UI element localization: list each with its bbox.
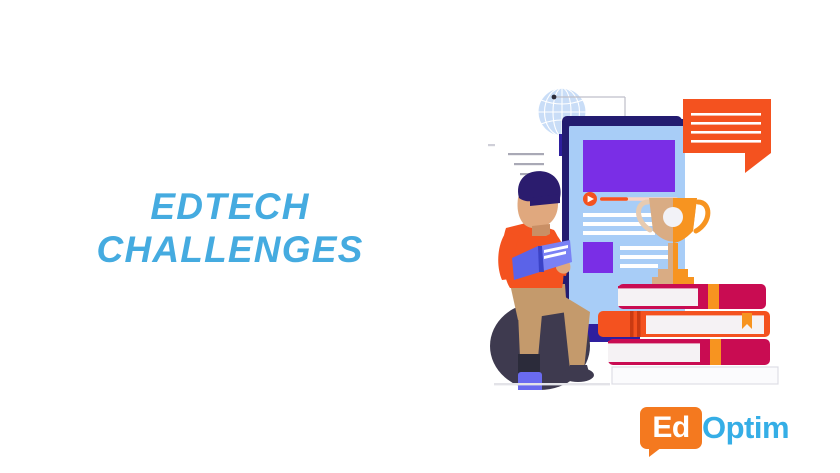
speech-bubble <box>683 99 771 173</box>
edoptim-logo[interactable]: Ed Optim <box>640 405 815 457</box>
play-button[interactable] <box>583 192 597 206</box>
video-player <box>583 140 675 192</box>
title-line-1: EDTECH <box>0 186 460 229</box>
page-title: EDTECH CHALLENGES <box>0 186 460 272</box>
logo-mark-text: Ed <box>640 407 702 449</box>
purple-thumbnail <box>583 242 613 273</box>
illustration-svg <box>470 80 800 390</box>
speed-lines <box>488 144 544 175</box>
hero-illustration <box>470 80 800 390</box>
book-stack <box>598 284 778 384</box>
title-line-2: CHALLENGES <box>0 229 460 272</box>
ground-line <box>494 383 610 385</box>
slide-canvas: EDTECH CHALLENGES <box>0 0 840 473</box>
logo-word-text: Optim <box>702 407 789 449</box>
